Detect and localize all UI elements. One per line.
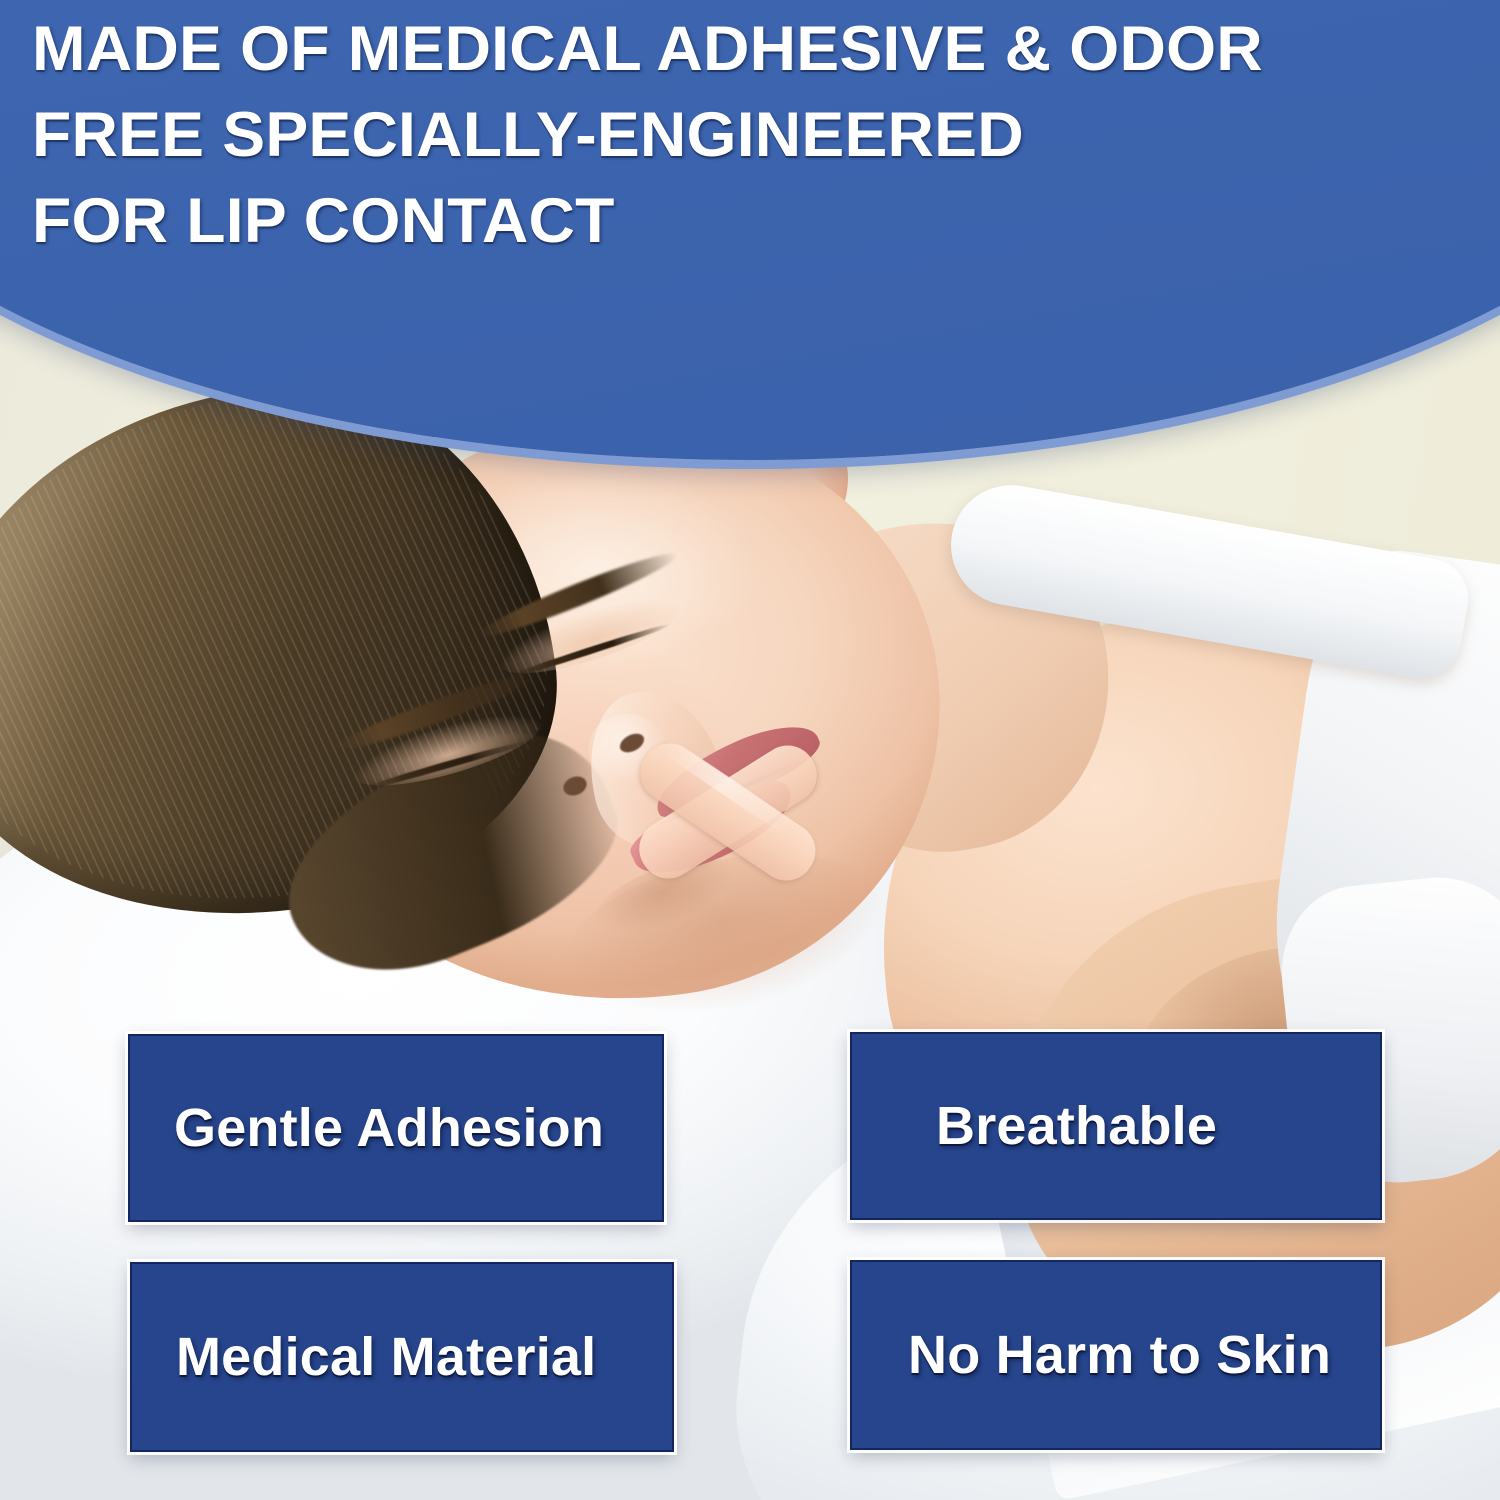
mouth-tape-strip bbox=[612, 706, 844, 918]
feature-box-gentle-adhesion: Gentle Adhesion bbox=[128, 1034, 664, 1222]
feature-label-no-harm-to-skin: No Harm to Skin bbox=[852, 1328, 1331, 1382]
headline-line-1: MADE OF MEDICAL ADHESIVE & ODOR bbox=[32, 6, 1500, 92]
product-feature-graphic: MADE OF MEDICAL ADHESIVE & ODOR FREE SPE… bbox=[0, 0, 1500, 1500]
headline-line-2: FREE SPECIALLY-ENGINEERED bbox=[32, 92, 1500, 178]
headline-banner: MADE OF MEDICAL ADHESIVE & ODOR FREE SPE… bbox=[0, 0, 1500, 460]
feature-box-no-harm-to-skin: No Harm to Skin bbox=[850, 1260, 1382, 1450]
headline-line-3: FOR LIP CONTACT bbox=[32, 178, 1500, 264]
headline-text: MADE OF MEDICAL ADHESIVE & ODOR FREE SPE… bbox=[32, 6, 1472, 264]
feature-box-breathable: Breathable bbox=[850, 1032, 1382, 1220]
feature-label-breathable: Breathable bbox=[852, 1099, 1217, 1153]
feature-label-medical-material: Medical Material bbox=[132, 1330, 596, 1384]
feature-box-medical-material: Medical Material bbox=[130, 1262, 674, 1452]
feature-label-gentle-adhesion: Gentle Adhesion bbox=[130, 1101, 604, 1155]
